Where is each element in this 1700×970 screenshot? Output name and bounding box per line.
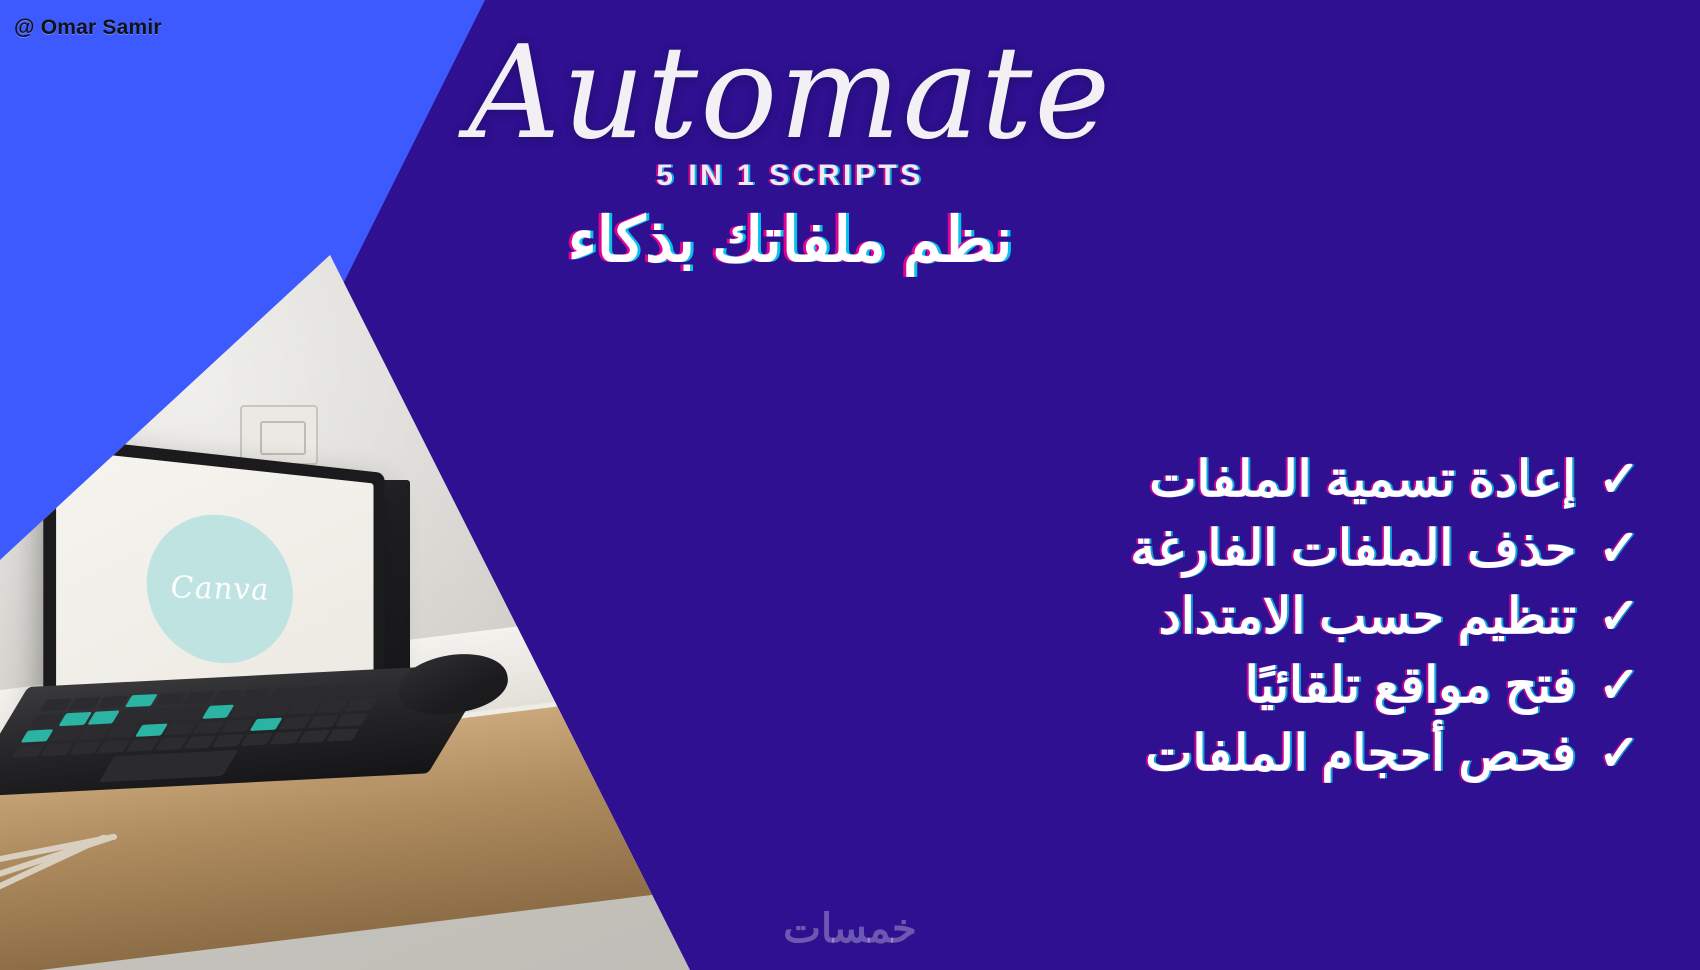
feature-checklist: ✓ إعادة تسمية الملفات ✓ حذف الملفات الفا… bbox=[900, 448, 1640, 791]
key bbox=[135, 723, 168, 737]
pen bbox=[0, 834, 108, 894]
checklist-item-label: فحص أحجام الملفات bbox=[1145, 722, 1576, 785]
key bbox=[345, 698, 378, 712]
checklist-item-label: فتح مواقع تلقائيًا bbox=[1245, 654, 1576, 717]
checklist-item-label: تنظيم حسب الامتداد bbox=[1159, 585, 1576, 648]
key bbox=[287, 701, 320, 715]
key bbox=[39, 698, 72, 712]
subtitle: 5 IN 1 SCRIPTS bbox=[440, 159, 1140, 193]
key bbox=[49, 727, 82, 741]
promo-banner: Canva bbox=[0, 0, 1700, 970]
key bbox=[164, 722, 197, 736]
checklist-item-label: إعادة تسمية الملفات bbox=[1149, 448, 1576, 511]
laptop-trackpad bbox=[99, 750, 238, 782]
checklist-item: ✓ تنظيم حسب الامتداد bbox=[900, 585, 1640, 648]
checklist-item: ✓ فحص أحجام الملفات bbox=[900, 722, 1640, 785]
key bbox=[278, 716, 311, 730]
checklist-item: ✓ فتح مواقع تلقائيًا bbox=[900, 654, 1640, 717]
check-icon: ✓ bbox=[1598, 660, 1640, 710]
key bbox=[12, 744, 45, 758]
key bbox=[155, 737, 188, 751]
key bbox=[173, 706, 206, 720]
check-icon: ✓ bbox=[1598, 454, 1640, 504]
key bbox=[354, 682, 387, 696]
key bbox=[125, 694, 158, 708]
key bbox=[326, 728, 359, 742]
key bbox=[59, 712, 92, 726]
main-title: Automate bbox=[440, 18, 1140, 169]
marketplace-watermark: خمسات bbox=[0, 906, 1700, 952]
canva-wordmark: Canva bbox=[56, 566, 373, 610]
key bbox=[250, 717, 283, 731]
checklist-item: ✓ إعادة تسمية الملفات bbox=[900, 448, 1640, 511]
key bbox=[182, 691, 215, 705]
key bbox=[40, 743, 73, 757]
desk-utensils bbox=[0, 800, 140, 890]
check-icon: ✓ bbox=[1598, 523, 1640, 573]
key bbox=[269, 731, 302, 745]
key bbox=[68, 697, 101, 711]
checklist-item: ✓ حذف الملفات الفارغة bbox=[900, 517, 1640, 580]
title-block: Automate 5 IN 1 SCRIPTS نظم ملفاتك بذكاء bbox=[440, 18, 1140, 276]
key bbox=[336, 713, 369, 727]
laptop: Canva bbox=[28, 455, 488, 775]
key bbox=[297, 685, 330, 699]
key bbox=[239, 688, 272, 702]
key bbox=[268, 687, 301, 701]
checklist-item-label: حذف الملفات الفارغة bbox=[1130, 517, 1576, 580]
key bbox=[241, 732, 274, 746]
author-handle: @ Omar Samir bbox=[14, 16, 162, 40]
keyboard-keys bbox=[12, 682, 387, 757]
check-icon: ✓ bbox=[1598, 591, 1640, 641]
check-icon: ✓ bbox=[1598, 728, 1640, 778]
key bbox=[126, 738, 159, 752]
key bbox=[154, 693, 187, 707]
arabic-headline: نظم ملفاتك بذكاء bbox=[440, 205, 1140, 276]
